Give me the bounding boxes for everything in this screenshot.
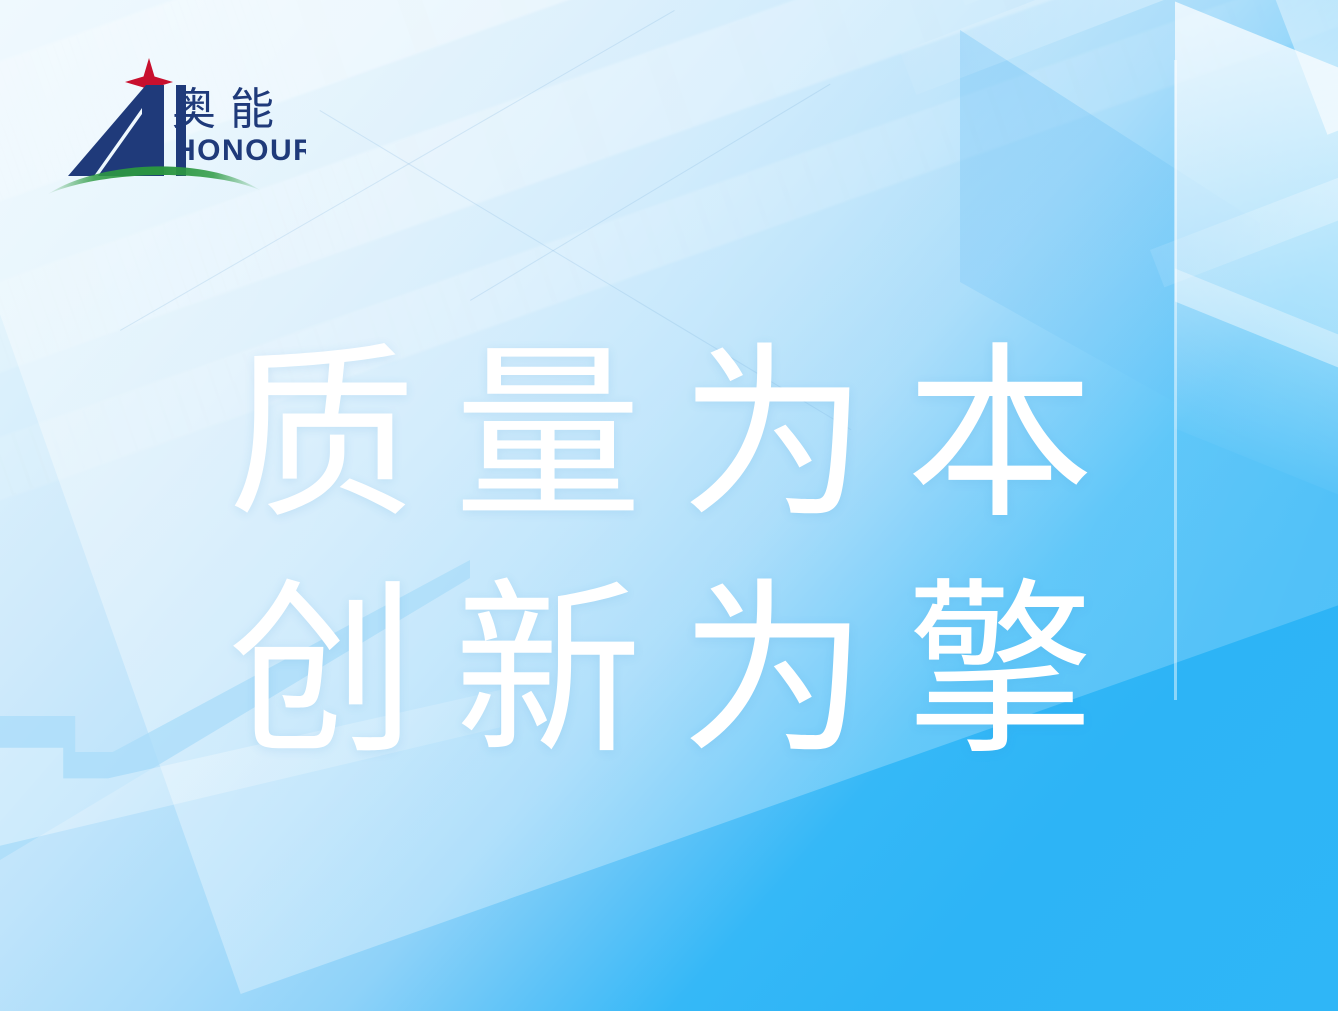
slogan-line-1: 质量为本 bbox=[228, 318, 1128, 554]
slogan-line-2: 创新为擎 bbox=[228, 554, 1128, 790]
slogan-block: 质量为本 创新为擎 bbox=[228, 318, 1128, 790]
a-letter-mark bbox=[68, 85, 186, 176]
company-logo[interactable]: 奥能 HONOUR bbox=[46, 52, 306, 202]
banner-canvas: 奥能 HONOUR 质量为本 创新为擎 bbox=[0, 0, 1338, 1011]
logo-chinese-name: 奥能 bbox=[172, 84, 288, 135]
logo-latin-name: HONOUR bbox=[174, 134, 306, 167]
